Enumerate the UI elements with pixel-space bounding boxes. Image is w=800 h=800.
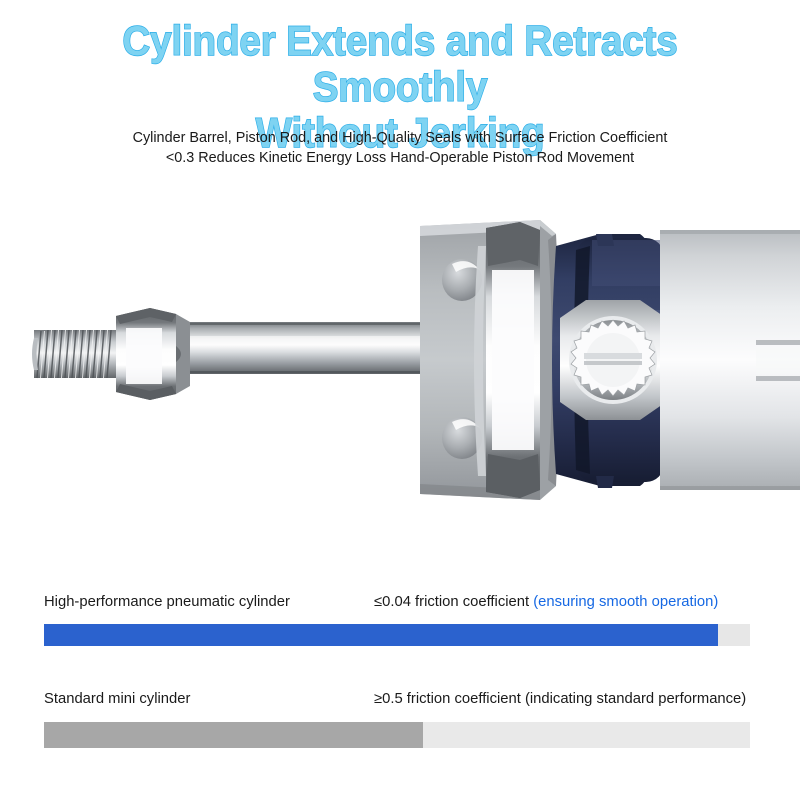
progress-fill-high-performance (44, 624, 718, 646)
friction-note-text: (ensuring smooth operation) (533, 594, 718, 610)
comparison-name-standard-mini: Standard mini cylinder (44, 691, 190, 707)
friction-value-text: ≥0.5 friction coefficient (374, 691, 525, 707)
comparison-value-standard-mini: ≥0.5 friction coefficient (indicating st… (374, 691, 746, 707)
comparison-value-high-performance: ≤0.04 friction coefficient (ensuring smo… (374, 594, 718, 610)
comparison-row-standard-mini: Standard mini cylinder ≥0.5 friction coe… (0, 691, 800, 748)
comparison-name-high-performance: High-performance pneumatic cylinder (44, 594, 290, 610)
comparison-row-high-performance: High-performance pneumatic cylinder ≤0.0… (0, 594, 800, 646)
progress-track-standard-mini (44, 722, 750, 748)
page-subtitle: Cylinder Barrel, Piston Rod, and High-Qu… (100, 128, 700, 168)
pneumatic-cylinder-illustration (0, 190, 800, 530)
hex-lock-nut (116, 308, 190, 400)
hex-port-fitting (560, 300, 666, 420)
friction-note-text: (indicating standard performance) (525, 691, 746, 707)
comparison-label-line: High-performance pneumatic cylinder ≤0.0… (44, 594, 800, 616)
progress-track-high-performance (44, 624, 750, 646)
progress-fill-standard-mini (44, 722, 423, 748)
threaded-rod-end (32, 330, 116, 378)
cylinder-barrel (660, 230, 800, 490)
comparison-label-line: Standard mini cylinder ≥0.5 friction coe… (44, 691, 800, 713)
friction-value-text: ≤0.04 friction coefficient (374, 594, 533, 610)
product-image (0, 190, 800, 530)
